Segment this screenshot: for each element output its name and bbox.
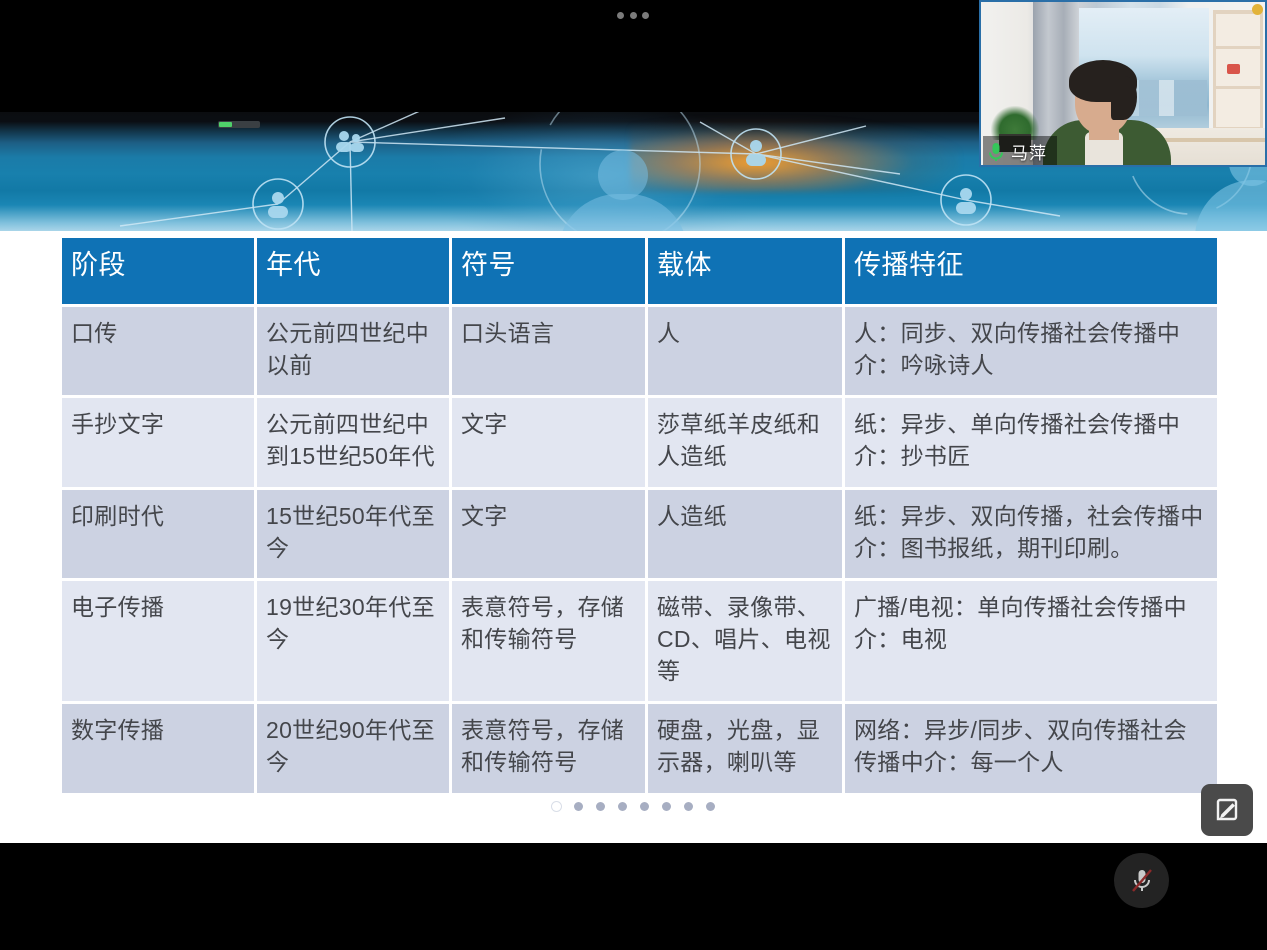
annotate-icon[interactable] [1201,784,1253,836]
video-background-desk-edge [1157,138,1267,142]
cell-stage: 数字传播 [62,704,254,792]
table-row: 手抄文字 公元前四世纪中到15世纪50年代 文字 莎草纸羊皮纸和人造纸 纸：异步… [62,398,1217,486]
pagination-dot[interactable] [552,802,561,811]
table-row: 电子传播 19世纪30年代至今 表意符号，存储和传输符号 磁带、录像带、CD、唱… [62,581,1217,701]
kebab-dot [642,12,649,19]
bottom-bar [0,843,1267,950]
kebab-menu-icon[interactable] [617,8,649,22]
slide-table-container: 阶段 年代 符号 载体 传播特征 口传 公元前四世纪中以前 口头语言 人 人：同… [59,235,1208,796]
cell-carrier: 硬盘，光盘，显示器，喇叭等 [648,704,842,792]
pagination-dot[interactable] [574,802,583,811]
table-header-row: 阶段 年代 符号 载体 传播特征 [62,238,1217,304]
cell-stage: 口传 [62,307,254,395]
microphone-active-icon [987,141,1005,163]
video-background-toy [1227,64,1240,74]
banner-person-head [598,150,648,200]
microphone-muted-icon[interactable] [1114,853,1169,908]
participant-name-badge: 马萍 [983,136,1057,167]
participant-name: 马萍 [1011,139,1047,164]
column-header-era: 年代 [257,238,449,304]
cell-features: 纸：异步、双向传播，社会传播中介：图书报纸，期刊印刷。 [845,490,1217,578]
cell-features: 纸：异步、单向传播社会传播中介：抄书匠 [845,398,1217,486]
participant-video-tile[interactable]: 马萍 [979,0,1267,167]
pagination-dot[interactable] [596,802,605,811]
column-header-features: 传播特征 [845,238,1217,304]
table-row: 口传 公元前四世纪中以前 口头语言 人 人：同步、双向传播社会传播中介：吟咏诗人 [62,307,1217,395]
cell-carrier: 磁带、录像带、CD、唱片、电视等 [648,581,842,701]
cell-symbol: 表意符号，存储和传输符号 [452,581,645,701]
slide-pagination[interactable] [0,802,1267,811]
kebab-dot [617,12,624,19]
cell-symbol: 口头语言 [452,307,645,395]
cell-era: 20世纪90年代至今 [257,704,449,792]
cell-symbol: 表意符号，存储和传输符号 [452,704,645,792]
banner-person-large [548,150,698,231]
pagination-dot[interactable] [706,802,715,811]
table-row: 数字传播 20世纪90年代至今 表意符号，存储和传输符号 硬盘，光盘，显示器，喇… [62,704,1217,792]
banner-person-body [1195,180,1267,231]
column-header-stage: 阶段 [62,238,254,304]
banner-person-body [558,194,688,231]
cell-stage: 电子传播 [62,581,254,701]
cell-features: 人：同步、双向传播社会传播中介：吟咏诗人 [845,307,1217,395]
cell-era: 公元前四世纪中以前 [257,307,449,395]
cell-carrier: 人 [648,307,842,395]
cell-era: 19世纪30年代至今 [257,581,449,701]
video-status-dot [1252,4,1263,15]
kebab-dot [630,12,637,19]
cell-era: 15世纪50年代至今 [257,490,449,578]
meeting-screen: 阶段 年代 符号 载体 传播特征 口传 公元前四世纪中以前 口头语言 人 人：同… [0,0,1267,950]
cell-features: 网络：异步/同步、双向传播社会传播中介：每一个人 [845,704,1217,792]
cell-features: 广播/电视：单向传播社会传播中介：电视 [845,581,1217,701]
cell-carrier: 人造纸 [648,490,842,578]
table-row: 印刷时代 15世纪50年代至今 文字 人造纸 纸：异步、双向传播，社会传播中介：… [62,490,1217,578]
pagination-dot[interactable] [662,802,671,811]
cell-symbol: 文字 [452,490,645,578]
cell-symbol: 文字 [452,398,645,486]
shared-slide[interactable]: 阶段 年代 符号 载体 传播特征 口传 公元前四世纪中以前 口头语言 人 人：同… [0,112,1267,843]
cell-stage: 手抄文字 [62,398,254,486]
column-header-carrier: 载体 [648,238,842,304]
cell-carrier: 莎草纸羊皮纸和人造纸 [648,398,842,486]
pagination-dot[interactable] [618,802,627,811]
cell-era: 公元前四世纪中到15世纪50年代 [257,398,449,486]
communication-stages-table: 阶段 年代 符号 载体 传播特征 口传 公元前四世纪中以前 口头语言 人 人：同… [59,235,1220,796]
pagination-dot[interactable] [684,802,693,811]
column-header-symbol: 符号 [452,238,645,304]
cell-stage: 印刷时代 [62,490,254,578]
pagination-dot[interactable] [640,802,649,811]
